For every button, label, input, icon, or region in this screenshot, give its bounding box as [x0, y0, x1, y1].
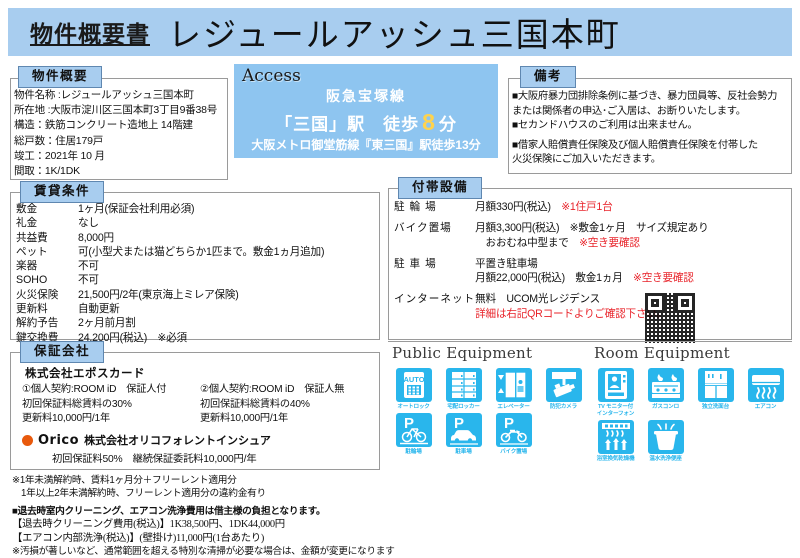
- equipment-item-label: 温水洗浄便座: [649, 456, 681, 463]
- footnotes: ※1年未満解約時、賃料1ヶ月分＋フリーレント適用分1年以上2年未満解約時、フリー…: [12, 474, 412, 558]
- svg-text:P: P: [504, 415, 514, 432]
- section-divider: [388, 341, 792, 342]
- rental-row: 解約予告2ヶ月前月割: [16, 316, 324, 330]
- rental-row-key: 火災保険: [16, 288, 78, 302]
- delivery-locker-icon: [446, 368, 482, 402]
- page-header: 物件概要書 レジュールアッシュ三国本町: [8, 8, 792, 56]
- facility-value-text: 無料 UCOM光レジデンス: [475, 293, 600, 305]
- elevator-icon: [496, 368, 532, 402]
- overview-row: 総戸数：住居179戸: [14, 134, 229, 149]
- equipment-item-label: エアコン: [755, 404, 777, 411]
- equipment-item: 温水洗浄便座: [642, 420, 689, 463]
- facility-subline: 月額22,000円(税込) 敷金1ヵ月 ※空き要確認: [475, 271, 708, 285]
- remarks-body: ■大阪府暴力団排除条例に基づき、暴力団員等、反社会勢力または関係者の申込･ご入居…: [512, 90, 800, 168]
- remarks-line: ■セカンドハウスのご利用は出来ません。: [512, 119, 800, 134]
- rental-row-value: 不可: [78, 273, 324, 287]
- guarantee-plan-line: ①個人契約:ROOM iD 保証人付: [22, 383, 166, 398]
- room-equipment-grid: TV モニター付 インターフォンガスコンロ独立洗面台エアコン浴室換気乾燥機温水洗…: [592, 368, 792, 463]
- room-equipment-heading: Room Equipment: [594, 344, 792, 362]
- equipment-item: ガスコンロ: [642, 368, 689, 418]
- air-conditioner-icon: [748, 368, 784, 402]
- facility-row: バイク置場月額3,300円(税込) ※敷金1ヶ月 サイズ規定あり おおむね中型ま…: [394, 221, 708, 257]
- guarantee-plan-line: 初回保証料総賃料の30%: [22, 398, 166, 413]
- facility-value-text: 月額3,300円(税込) ※敷金1ヶ月 サイズ規定あり: [475, 222, 708, 234]
- footnote-line: 【エアコン内部洗浄(税込)】(壁掛け)11,000円(1台あたり): [12, 532, 412, 545]
- svg-text:AUTO: AUTO: [403, 375, 424, 384]
- property-overview-list: 物件名称 :レジュールアッシュ三国本町所在地 :大阪市淀川区三国本町3丁目9番3…: [14, 88, 229, 179]
- access-walk-minutes: 8: [419, 109, 439, 135]
- security-camera-icon: [546, 368, 582, 402]
- equipment-item: 浴室換気乾燥機: [592, 420, 639, 463]
- equipment-item: エレベーター: [490, 368, 537, 411]
- rental-row-key: 敷金: [16, 202, 78, 216]
- property-summary-sheet: 物件概要書 レジュールアッシュ三国本町 物件概要 物件名称 :レジュールアッシュ…: [0, 0, 800, 550]
- facility-subline-note: ※空き要確認: [633, 272, 694, 284]
- tv-intercom-icon: [598, 368, 634, 402]
- facility-subline-note: ※空き要確認: [579, 237, 640, 249]
- remarks-line: ■借家人賠償責任保険及び個人賠償責任保険を付帯した: [512, 139, 800, 154]
- guarantee-plan-line: 更新料10,000円/1年: [200, 412, 344, 427]
- access-station-walk: 「三国」駅 徒歩8分: [234, 109, 498, 136]
- equipment-item: P駐車場: [440, 413, 487, 456]
- rental-row-value: 21,500円/2年(東京海上ミレア保険): [78, 288, 324, 302]
- page-header-label: 物件概要書: [30, 15, 150, 49]
- washbasin-icon: [698, 368, 734, 402]
- equipment-item-label: ガスコンロ: [652, 404, 679, 411]
- remarks-title: 備考: [520, 66, 576, 88]
- facility-row-key: バイク置場: [394, 221, 475, 257]
- equipment-item: 独立洗面台: [692, 368, 739, 418]
- rental-row-value: 不可: [78, 259, 324, 273]
- orico-row: Orico 株式会社オリコフォレントインシュア: [22, 432, 271, 448]
- rental-conditions-table: 敷金1ヶ月(保証会社利用必須)礼金なし共益費8,000円ペット可(小型犬または猫…: [16, 202, 324, 345]
- facility-subline-note: 詳細は右記QRコードよりご確認下さい。: [475, 308, 667, 320]
- rental-row-value: 24,200円(税込) ※必須: [78, 331, 324, 345]
- equipment-item-label: 駐輪場: [405, 449, 421, 456]
- remarks-line: または関係者の申込･ご入居は、お断りいたします。: [512, 105, 800, 120]
- rental-row-value: 自動更新: [78, 302, 324, 316]
- rental-row-key: 解約予告: [16, 316, 78, 330]
- rental-row-key: SOHO: [16, 273, 78, 287]
- page-title: レジュールアッシュ三国本町: [168, 8, 621, 56]
- overview-row: 物件名称 :レジュールアッシュ三国本町: [14, 88, 229, 103]
- equipment-item-label: バイク置場: [500, 449, 527, 456]
- facility-row-value: 月額3,300円(税込) ※敷金1ヶ月 サイズ規定あり おおむね中型まで ※空き…: [475, 221, 708, 257]
- footnote-line: ※1年未満解約時、賃料1ヶ月分＋フリーレント適用分: [12, 474, 412, 487]
- rental-row-value: 8,000円: [78, 231, 324, 245]
- bicycle-parking-icon: P: [396, 413, 432, 447]
- access-panel: Access 阪急宝塚線 「三国」駅 徒歩8分 大阪メトロ御堂筋線『東三国』駅徒…: [234, 64, 498, 158]
- equipment-item: 防犯カメラ: [540, 368, 587, 411]
- footnote-line: 1年以上2年未満解約時、フリーレント適用分の違約金有り: [12, 487, 412, 500]
- equipment-item: 宅配ロッカー: [440, 368, 487, 411]
- footnote-line: ※汚損が著しいなど、通常範囲を超える特別な清掃が必要な場合は、金額が変更になりま…: [12, 545, 412, 558]
- rental-row-key: ペット: [16, 245, 78, 259]
- access-heading: Access: [242, 66, 301, 86]
- footnote-line: 【退去時クリーニング費用(税込)】1K38,500円、1DK44,000円: [12, 518, 412, 531]
- svg-text:P: P: [454, 415, 464, 432]
- equipment-item: P駐輪場: [390, 413, 437, 456]
- rental-row-key: 共益費: [16, 231, 78, 245]
- rental-row-value: 可(小型犬または猫どちらか1匹まで。敷金1ヵ月追加): [78, 245, 324, 259]
- guarantee-plan-1: ①個人契約:ROOM iD 保証人付初回保証料総賃料の30%更新料10,000円…: [22, 383, 166, 427]
- overview-row: 所在地 :大阪市淀川区三国本町3丁目9番38号: [14, 103, 229, 118]
- access-secondary-station: 大阪メトロ御堂筋線『東三国』駅徒歩13分: [234, 136, 498, 153]
- overview-row: 間取：1K/1DK: [14, 164, 229, 179]
- facility-row: 駐 車 場平置き駐車場月額22,000円(税込) 敷金1ヵ月 ※空き要確認: [394, 257, 708, 293]
- room-equipment-panel: Room Equipment TV モニター付 インターフォンガスコンロ独立洗面…: [592, 344, 792, 478]
- rental-row: 共益費8,000円: [16, 231, 324, 245]
- rental-row: ペット可(小型犬または猫どちらか1匹まで。敷金1ヵ月追加): [16, 245, 324, 259]
- equipment-item-label: 防犯カメラ: [550, 404, 577, 411]
- facility-subline-text: 月額22,000円(税込) 敷金1ヵ月: [475, 272, 633, 284]
- overview-row: 構造：鉄筋コンクリート造地上 14階建: [14, 118, 229, 133]
- equipment-item-label: 独立洗面台: [702, 404, 729, 411]
- guarantee-plan-2: ②個人契約:ROOM iD 保証人無初回保証料総賃料の40%更新料10,000円…: [200, 383, 344, 427]
- facility-row-value: 平置き駐車場月額22,000円(税込) 敷金1ヵ月 ※空き要確認: [475, 257, 708, 293]
- washlet-icon: [648, 420, 684, 454]
- public-equipment-heading: Public Equipment: [392, 344, 590, 362]
- facility-row-value: 月額330円(税込) ※1住戸1台: [475, 200, 708, 221]
- guarantee-plan-line: 初回保証料総賃料の40%: [200, 398, 344, 413]
- facility-row-key: 駐 輪 場: [394, 200, 475, 221]
- rental-row: 敷金1ヶ月(保証会社利用必須): [16, 202, 324, 216]
- equipment-item: TV モニター付 インターフォン: [592, 368, 639, 418]
- orico-brand: Orico: [38, 433, 79, 448]
- rental-row: SOHO不可: [16, 273, 324, 287]
- orico-company-name: 株式会社オリコフォレントインシュア: [84, 432, 271, 448]
- facility-subline: おおむね中型まで ※空き要確認: [475, 236, 708, 250]
- access-station-prefix: 「三国」駅 徒歩: [275, 115, 419, 134]
- rental-row-value: なし: [78, 216, 324, 230]
- equipment-item: AUTOオートロック: [390, 368, 437, 411]
- overview-row: 竣工：2021年 10 月: [14, 149, 229, 164]
- orico-logo-icon: [22, 435, 33, 446]
- public-equipment-grid: AUTOオートロック宅配ロッカーエレベーター防犯カメラP駐輪場P駐車場Pバイク置…: [390, 368, 590, 456]
- orico-fee: 初回保証料50% 継続保証委託料10,000円/年: [52, 450, 256, 465]
- access-train-line: 阪急宝塚線: [234, 86, 498, 106]
- equipment-item-label: 浴室換気乾燥機: [597, 456, 635, 463]
- equipment-item-label: オートロック: [397, 404, 429, 411]
- gas-stove-icon: [648, 368, 684, 402]
- auto-lock-icon: AUTO: [396, 368, 432, 402]
- guarantee-plan-line: 更新料10,000円/1年: [22, 412, 166, 427]
- motorbike-parking-icon: P: [496, 413, 532, 447]
- rental-row-key: 更新料: [16, 302, 78, 316]
- guarantee-company-title: 保証会社: [20, 341, 104, 363]
- public-equipment-panel: Public Equipment AUTOオートロック宅配ロッカーエレベーター防…: [390, 344, 590, 478]
- facility-value-text: 月額330円(税込): [475, 201, 561, 213]
- equipment-item-label: TV モニター付 インターフォン: [597, 404, 634, 418]
- rental-row: 火災保険21,500円/2年(東京海上ミレア保険): [16, 288, 324, 302]
- qr-code[interactable]: [645, 293, 695, 343]
- access-station-suffix: 分: [439, 115, 457, 134]
- equipment-item: エアコン: [742, 368, 789, 418]
- guarantee-plan-line: ②個人契約:ROOM iD 保証人無: [200, 383, 344, 398]
- rental-row-key: 礼金: [16, 216, 78, 230]
- remarks-line: 火災保険にご加入いただきます。: [512, 153, 800, 168]
- car-parking-icon: P: [446, 413, 482, 447]
- facility-row-key: 駐 車 場: [394, 257, 475, 293]
- bath-dryer-icon: [598, 420, 634, 454]
- equipment-item: Pバイク置場: [490, 413, 537, 456]
- rental-row: 楽器不可: [16, 259, 324, 273]
- remarks-line: ■大阪府暴力団排除条例に基づき、暴力団員等、反社会勢力: [512, 90, 800, 105]
- facility-row-key: インターネット: [394, 292, 475, 328]
- rental-row-value: 2ヶ月前月割: [78, 316, 324, 330]
- equipment-item-label: 宅配ロッカー: [447, 404, 479, 411]
- rental-conditions-title: 賃貸条件: [20, 181, 104, 203]
- facilities-title: 付帯設備: [398, 177, 482, 199]
- rental-row-value: 1ヶ月(保証会社利用必須): [78, 202, 324, 216]
- rental-row-key: 楽器: [16, 259, 78, 273]
- facility-value-note: ※1住戸1台: [561, 201, 612, 213]
- rental-row: 礼金なし: [16, 216, 324, 230]
- facility-row: 駐 輪 場月額330円(税込) ※1住戸1台: [394, 200, 708, 221]
- guarantee-company-name: 株式会社エポスカード: [25, 365, 145, 381]
- property-overview-title: 物件概要: [18, 66, 102, 88]
- equipment-item-label: 駐車場: [455, 449, 471, 456]
- footnote-line: ■退去時室内クリーニング、エアコン洗浄費用は借主様の負担となります。: [12, 505, 412, 518]
- facility-subline-text: おおむね中型まで: [475, 237, 579, 249]
- facility-value-text: 平置き駐車場: [475, 258, 537, 270]
- equipment-item-label: エレベーター: [497, 404, 529, 411]
- rental-row: 更新料自動更新: [16, 302, 324, 316]
